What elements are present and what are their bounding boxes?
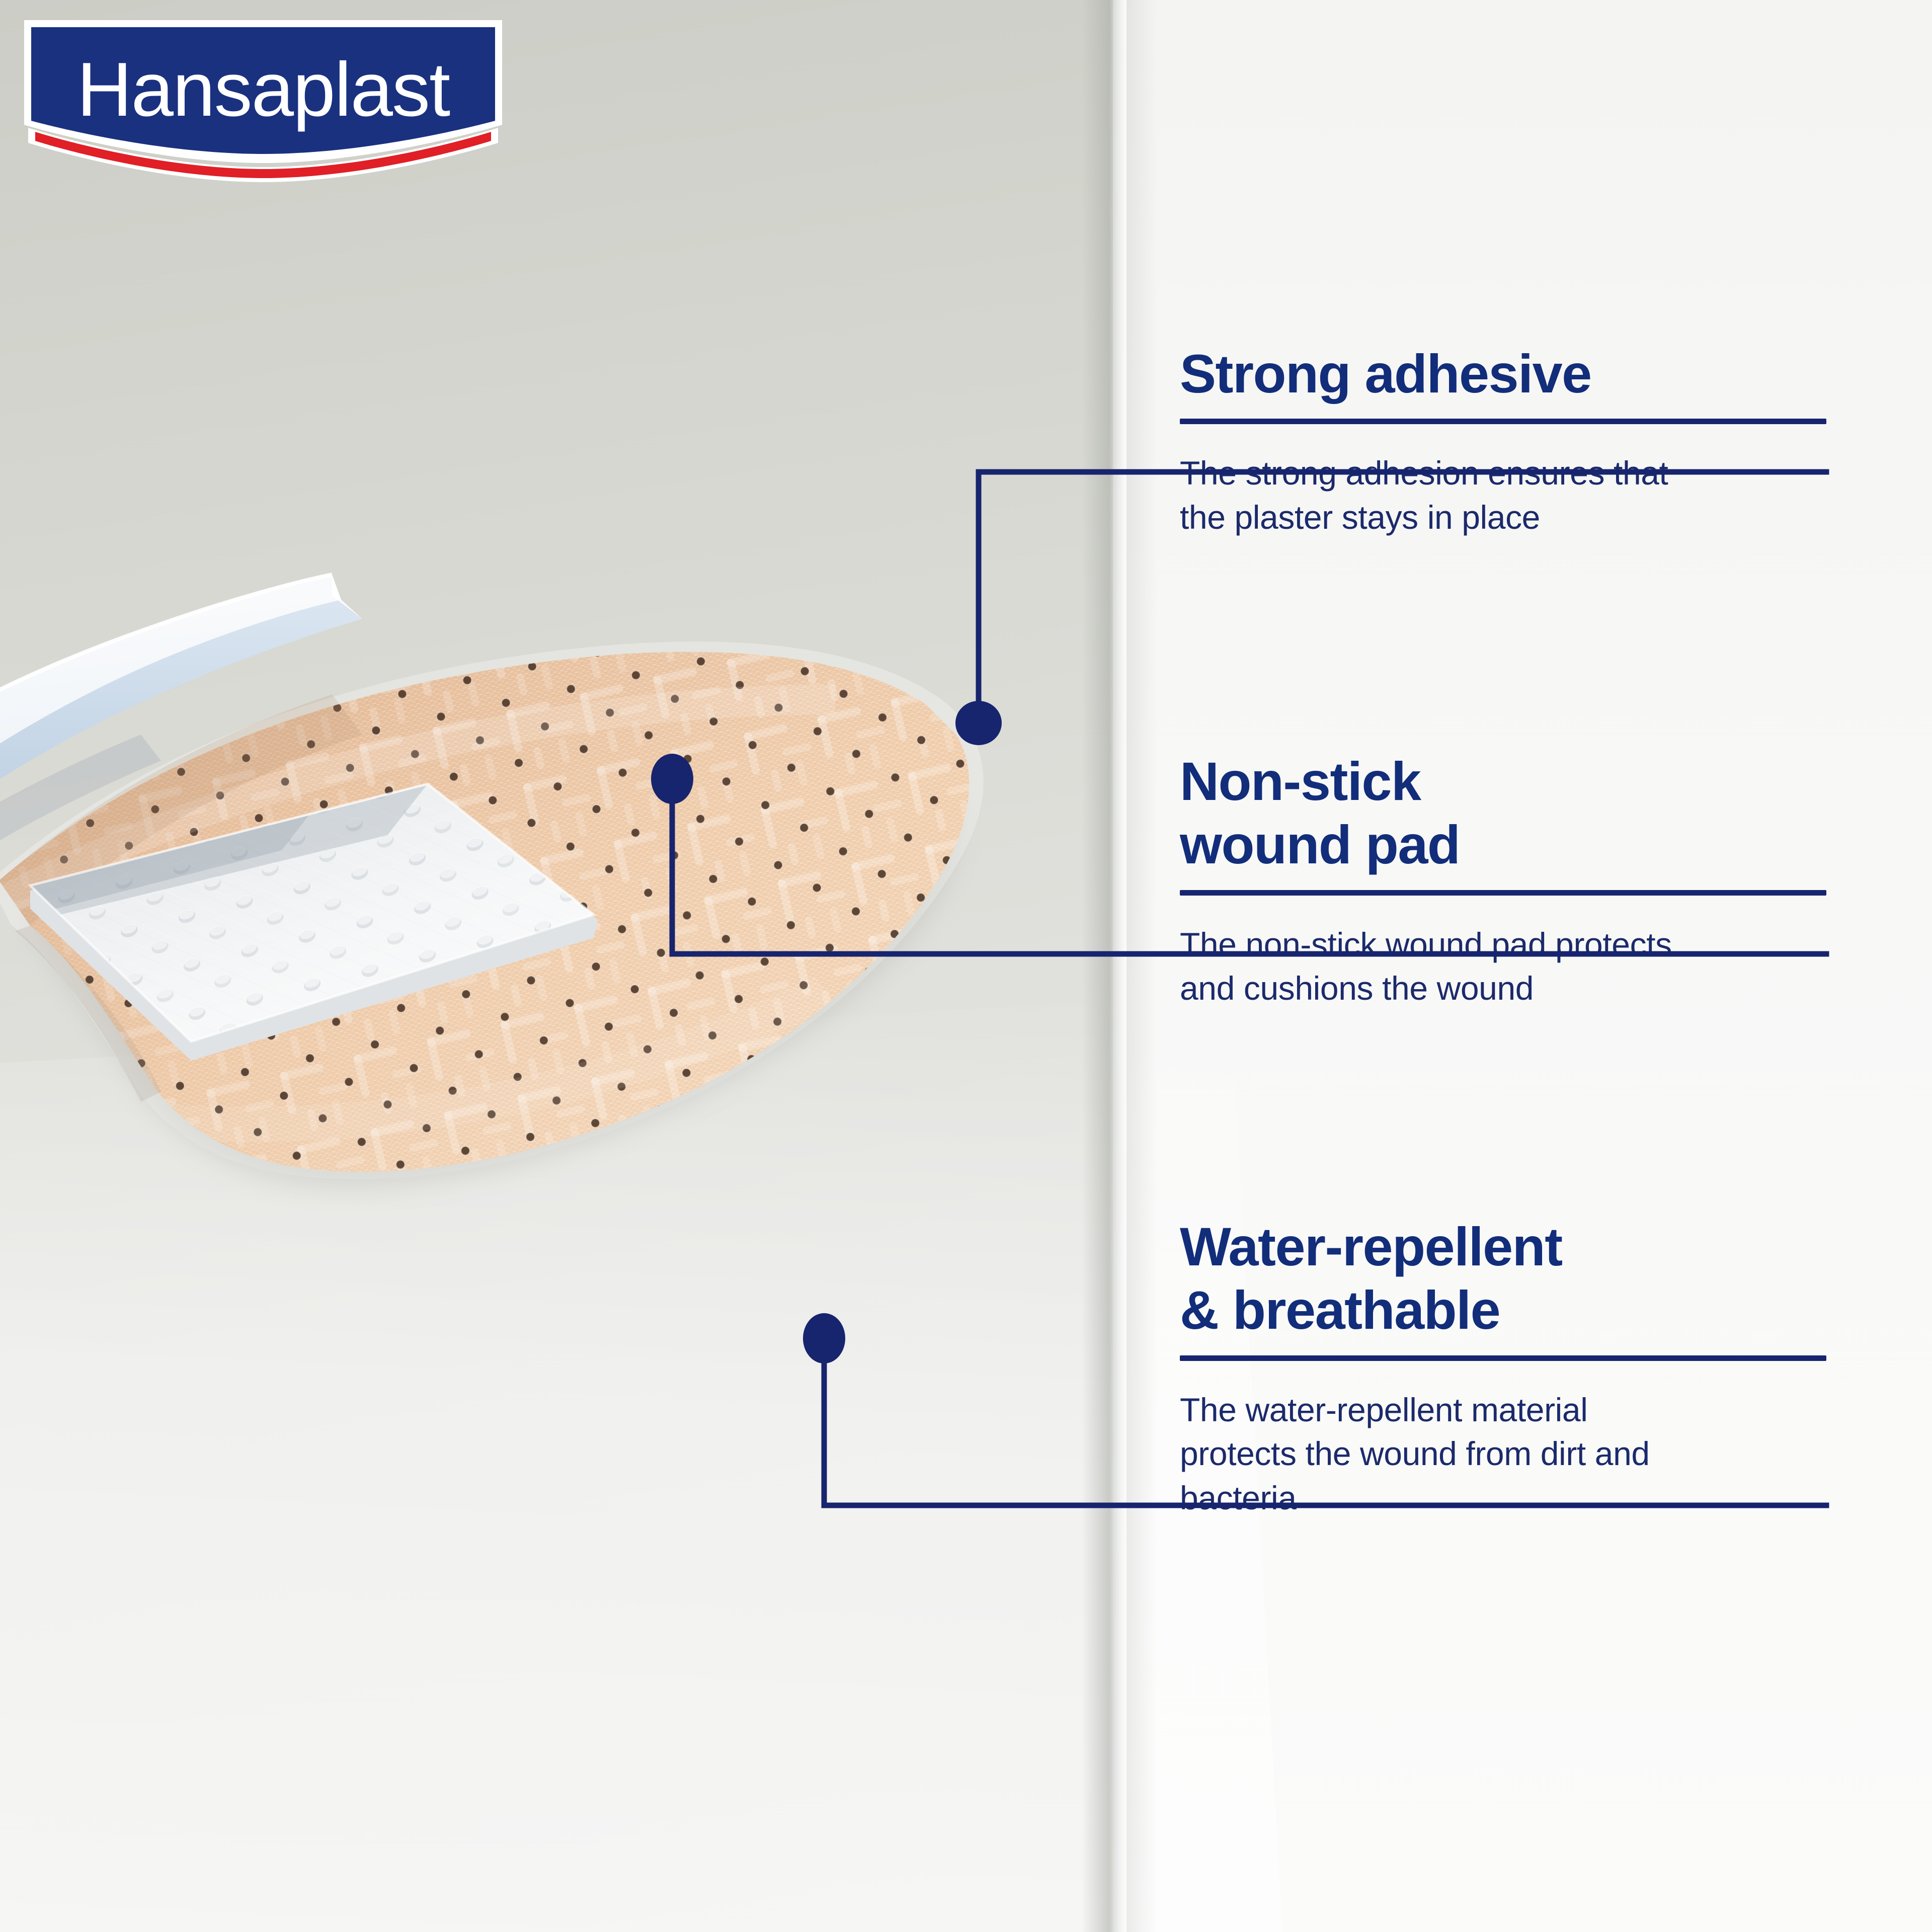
- feature-heading: Water-repellent & breathable: [1180, 1215, 1834, 1342]
- logo-wordmark: Hansaplast: [77, 47, 450, 132]
- feature-heading: Strong adhesive: [1180, 342, 1834, 406]
- feature-divider: [1180, 419, 1826, 424]
- feature-body: The strong adhesion ensures that the pla…: [1180, 451, 1834, 540]
- feature-water-repellent-breathable: Water-repellent & breathable The water-r…: [1180, 1215, 1834, 1520]
- feature-body: The non-stick wound pad protects and cus…: [1180, 923, 1834, 1011]
- feature-heading: Non-stick wound pad: [1180, 750, 1834, 877]
- feature-strong-adhesive: Strong adhesive The strong adhesion ensu…: [1180, 342, 1834, 540]
- product-illustration: [0, 382, 1197, 1419]
- feature-divider: [1180, 890, 1826, 896]
- feature-body: The water-repellent material protects th…: [1180, 1388, 1834, 1520]
- infographic-canvas: Hansaplast: [0, 0, 1932, 1932]
- feature-non-stick-wound-pad: Non-stick wound pad The non-stick wound …: [1180, 750, 1834, 1011]
- hansaplast-logo: Hansaplast: [24, 20, 502, 186]
- feature-divider: [1180, 1355, 1826, 1361]
